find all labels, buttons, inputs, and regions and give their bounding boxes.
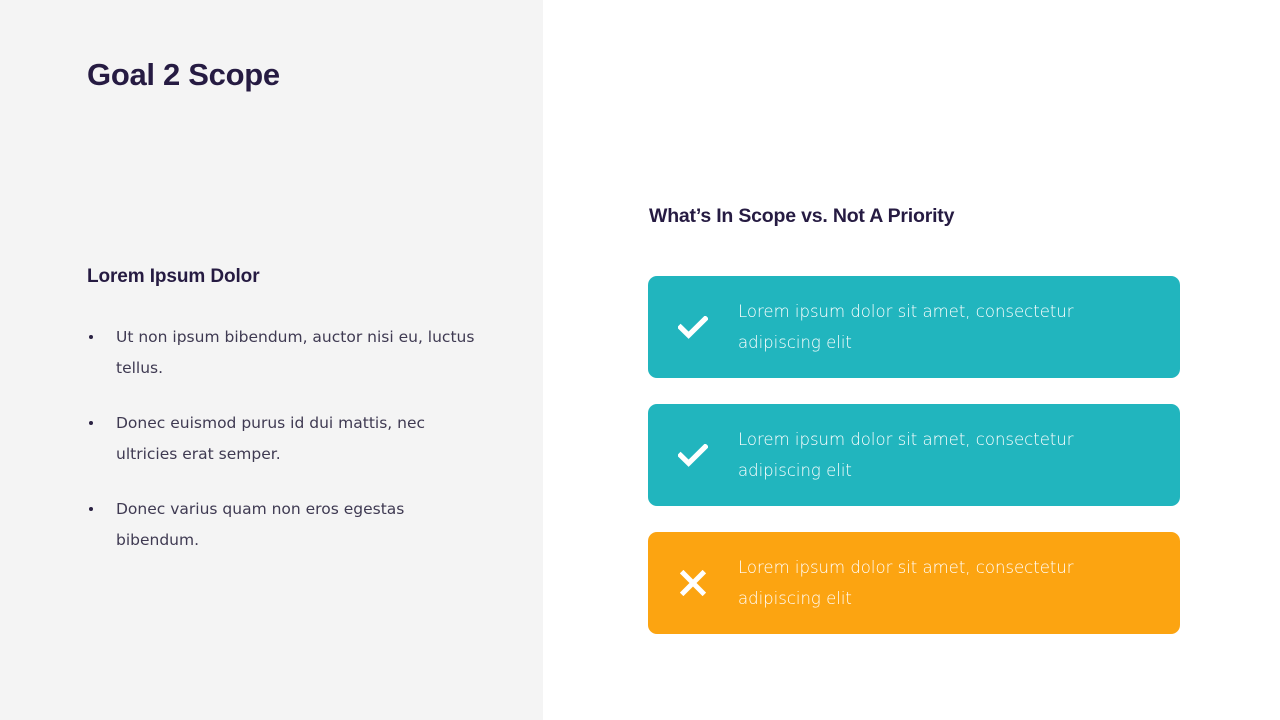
- list-item-label: Donec varius quam non eros egestas biben…: [116, 500, 404, 549]
- scope-card-not-a-priority[interactable]: Lorem ipsum dolor sit amet, consectetur …: [648, 532, 1180, 634]
- scope-card-label: Lorem ipsum dolor sit amet, consectetur …: [738, 424, 1180, 486]
- scope-card-label: Lorem ipsum dolor sit amet, consectetur …: [738, 296, 1180, 358]
- list-item-label: Ut non ipsum bibendum, auctor nisi eu, l…: [116, 328, 474, 377]
- check-icon: [648, 404, 738, 506]
- scope-card-in-scope-1[interactable]: Lorem ipsum dolor sit amet, consectetur …: [648, 276, 1180, 378]
- check-icon: [648, 276, 738, 378]
- list-item: Donec varius quam non eros egestas biben…: [87, 494, 487, 556]
- list-item-label: Donec euismod purus id dui mattis, nec u…: [116, 414, 425, 463]
- bullet-dot-icon: [89, 421, 93, 425]
- scope-card-list: Lorem ipsum dolor sit amet, consectetur …: [648, 276, 1180, 634]
- left-subheading: Lorem Ipsum Dolor: [87, 266, 507, 288]
- list-item: Donec euismod purus id dui mattis, nec u…: [87, 408, 487, 470]
- section-heading: What’s In Scope vs. Not A Priority: [649, 205, 1209, 228]
- left-panel: Goal 2 Scope Lorem Ipsum Dolor Ut non ip…: [0, 0, 543, 720]
- right-panel: What’s In Scope vs. Not A Priority Lorem…: [543, 0, 1280, 720]
- slide: Goal 2 Scope Lorem Ipsum Dolor Ut non ip…: [0, 0, 1280, 720]
- page-title: Goal 2 Scope: [87, 57, 517, 93]
- list-item: Ut non ipsum bibendum, auctor nisi eu, l…: [87, 322, 487, 384]
- bullet-dot-icon: [89, 335, 93, 339]
- cross-icon: [648, 532, 738, 634]
- scope-card-in-scope-2[interactable]: Lorem ipsum dolor sit amet, consectetur …: [648, 404, 1180, 506]
- scope-card-label: Lorem ipsum dolor sit amet, consectetur …: [738, 552, 1180, 614]
- bullet-dot-icon: [89, 507, 93, 511]
- bullet-list: Ut non ipsum bibendum, auctor nisi eu, l…: [87, 322, 487, 556]
